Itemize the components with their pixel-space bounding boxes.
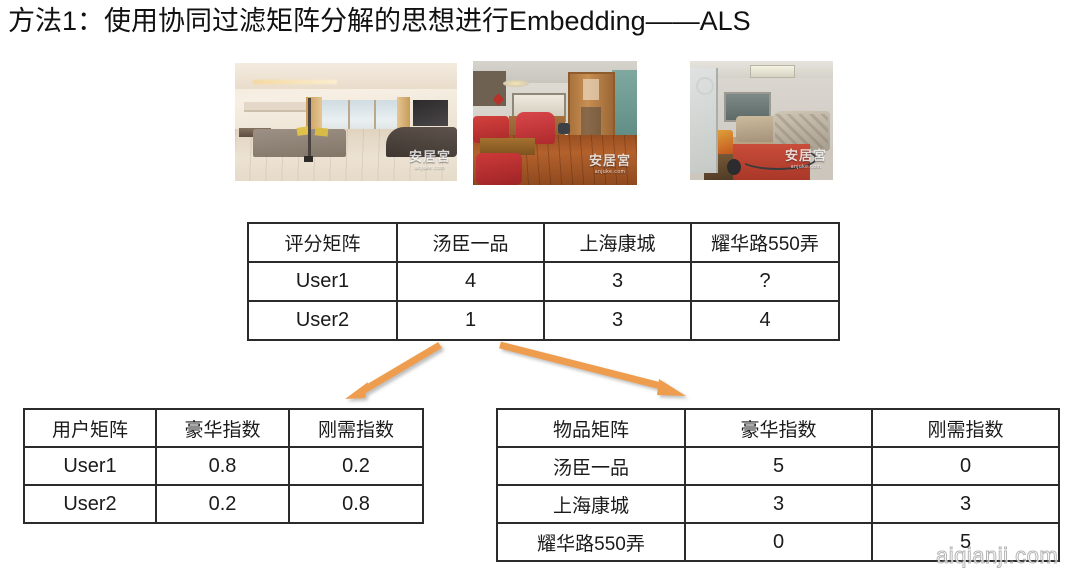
- photo1-shelf: [244, 102, 306, 112]
- photo1-ceiling: [235, 63, 457, 89]
- slide-canvas: 方法1：使用协同过滤矩阵分解的思想进行Embedding——ALS 安居宮 an…: [0, 0, 1080, 574]
- user-matrix-row-1-value-0: 0.2: [156, 485, 289, 523]
- photo2-watermark: 安居宮 anjuke.com: [589, 150, 631, 175]
- user-matrix-header-2: 刚需指数: [289, 409, 423, 447]
- photo2-watermark-text: 安居宮: [589, 153, 631, 168]
- item-matrix-table: 物品矩阵 豪华指数 刚需指数 汤臣一品 5 0 上海康城 3 3 耀华路550弄…: [496, 408, 1060, 562]
- rating-matrix-table: 评分矩阵 汤臣一品 上海康城 耀华路550弄 User1 4 3 ? User2…: [247, 222, 840, 341]
- user-matrix-row-0-label: User1: [24, 447, 156, 485]
- photo1-watermark: 安居宮 anjuke.com: [409, 146, 451, 171]
- user-matrix-table: 用户矩阵 豪华指数 刚需指数 User1 0.8 0.2 User2 0.2 0…: [23, 408, 424, 524]
- photo1-television: [413, 100, 449, 126]
- user-matrix-header-1: 豪华指数: [156, 409, 289, 447]
- photo2-watermark-subtext: anjuke.com: [589, 169, 631, 175]
- item-matrix-row-0-value-0: 5: [685, 447, 872, 485]
- item-matrix-row-2-value-0: 0: [685, 523, 872, 561]
- photo2-ceiling-lamp: [503, 80, 529, 87]
- rating-matrix-row-1-value-0: 1: [397, 301, 544, 340]
- table-row-header: 物品矩阵 豪华指数 刚需指数: [497, 409, 1059, 447]
- photo-budget-apartment-cluttered-room: 安居宮 anjuke.com: [690, 61, 833, 180]
- table-row: User1 0.8 0.2: [24, 447, 423, 485]
- rating-matrix-row-0-value-0: 4: [397, 262, 544, 301]
- rating-matrix-header-0: 评分矩阵: [248, 223, 397, 262]
- item-matrix-row-0-label: 汤臣一品: [497, 447, 685, 485]
- photo1-cove-light: [253, 80, 337, 85]
- photo1-stand: [304, 156, 313, 162]
- table-row: 汤臣一品 5 0: [497, 447, 1059, 485]
- rating-matrix-header-3: 耀华路550弄: [691, 223, 839, 262]
- user-matrix-row-0-value-0: 0.8: [156, 447, 289, 485]
- item-matrix-row-0-value-1: 0: [872, 447, 1059, 485]
- arrow-to-item-matrix: [500, 345, 686, 396]
- table-row-header: 评分矩阵 汤臣一品 上海康城 耀华路550弄: [248, 223, 839, 262]
- rating-matrix-row-0-value-1: 3: [544, 262, 691, 301]
- photo3-mirror-door: [690, 68, 718, 173]
- photo2-red-sofa-3: [476, 153, 522, 185]
- user-matrix-header-0: 用户矩阵: [24, 409, 156, 447]
- photo1-window: [319, 100, 403, 132]
- photo-mid-range-apartment-red-sofa: 安居宮 anjuke.com: [473, 61, 637, 185]
- photo-luxury-apartment-living-room: 安居宮 anjuke.com: [235, 63, 457, 181]
- rating-matrix-header-2: 上海康城: [544, 223, 691, 262]
- table-row: User2 1 3 4: [248, 301, 839, 340]
- rating-matrix-row-0-label: User1: [248, 262, 397, 301]
- photo3-watermark: 安居宮 anjuke.com: [785, 145, 827, 170]
- item-matrix-header-0: 物品矩阵: [497, 409, 685, 447]
- item-matrix-header-2: 刚需指数: [872, 409, 1059, 447]
- photo1-watermark-subtext: anjuke.com: [409, 165, 451, 171]
- rating-matrix-row-0-value-2: ?: [691, 262, 839, 301]
- item-matrix-row-1-value-1: 3: [872, 485, 1059, 523]
- page-watermark: aiqianji.com: [936, 543, 1058, 569]
- table-row-header: 用户矩阵 豪华指数 刚需指数: [24, 409, 423, 447]
- photo1-pole: [308, 98, 311, 157]
- table-row: User1 4 3 ?: [248, 262, 839, 301]
- rating-matrix-row-1-label: User2: [248, 301, 397, 340]
- rating-matrix-row-1-value-1: 3: [544, 301, 691, 340]
- table-row: User2 0.2 0.8: [24, 485, 423, 523]
- photo2-bag: [558, 123, 569, 134]
- photo3-watermark-text: 安居宮: [785, 148, 827, 163]
- item-matrix-header-1: 豪华指数: [685, 409, 872, 447]
- page-title: 方法1：使用协同过滤矩阵分解的思想进行Embedding——ALS: [8, 4, 751, 38]
- item-matrix-row-1-label: 上海康城: [497, 485, 685, 523]
- table-row: 上海康城 3 3: [497, 485, 1059, 523]
- item-matrix-row-2-label: 耀华路550弄: [497, 523, 685, 561]
- user-matrix-row-0-value-1: 0.2: [289, 447, 423, 485]
- photo1-watermark-text: 安居宮: [409, 149, 451, 164]
- rating-matrix-header-1: 汤臣一品: [397, 223, 544, 262]
- rating-matrix-row-1-value-2: 4: [691, 301, 839, 340]
- photo1-cushion-yellow-2: [315, 127, 329, 137]
- arrow-to-user-matrix: [345, 345, 440, 399]
- photo3-watermark-subtext: anjuke.com: [785, 164, 827, 170]
- photo3-ceiling-light-panel: [750, 65, 795, 79]
- user-matrix-row-1-label: User2: [24, 485, 156, 523]
- user-matrix-row-1-value-1: 0.8: [289, 485, 423, 523]
- item-matrix-row-1-value-0: 3: [685, 485, 872, 523]
- photo2-green-door: [612, 70, 637, 142]
